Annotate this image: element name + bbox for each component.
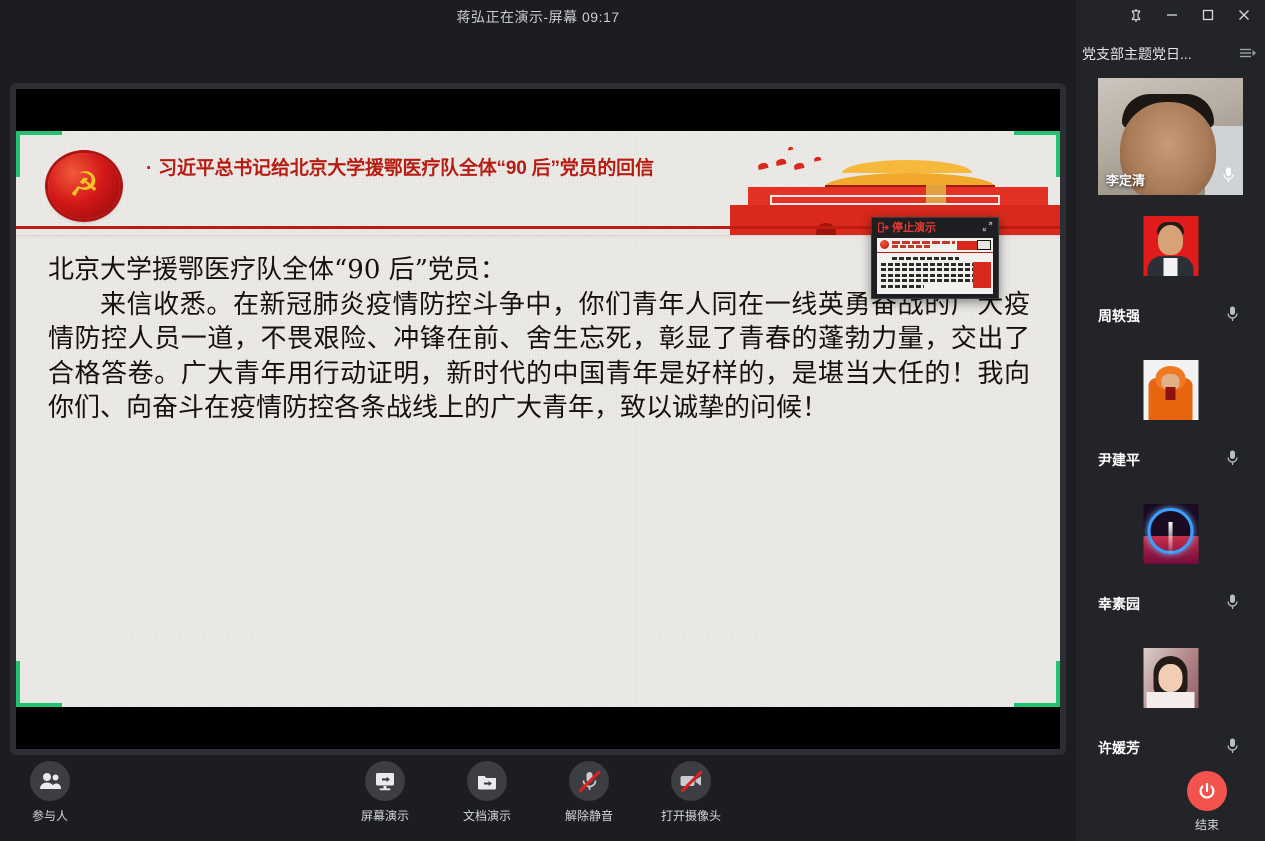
slide-title: ·习近平总书记给北京大学援鄂医疗队全体“90 后”党员的回信: [146, 157, 706, 181]
toolbar-actions: 屏幕演示 文档演示: [351, 761, 725, 824]
maximize-icon[interactable]: [1199, 6, 1217, 24]
mic-on-icon[interactable]: [1226, 593, 1239, 616]
window-controls: [1076, 0, 1265, 30]
letterbox-bottom: [16, 707, 1060, 749]
document-share-label: 文档演示: [463, 807, 511, 824]
screen-share-surface[interactable]: ☭ ·习近平总书记给北京大学援鄂医疗队全体“90 后”党员的回信: [16, 89, 1060, 749]
document-share-icon: [467, 761, 507, 801]
mic-on-icon[interactable]: [1222, 166, 1235, 189]
share-border-corner-top-right: [1014, 131, 1060, 177]
meeting-toolbar: 参与人 屏幕演示: [0, 755, 1076, 841]
participant-tile[interactable]: 周轶强: [1098, 208, 1243, 352]
people-icon: [30, 761, 70, 801]
meeting-topic: 党支部主题党日...: [1082, 44, 1233, 64]
participant-name: 周轶强: [1098, 306, 1140, 326]
window-titlebar: 蒋弘正在演示-屏幕 09:17: [0, 0, 1076, 34]
slide-title-text: 习近平总书记给北京大学援鄂医疗队全体“90 后”党员的回信: [158, 158, 654, 179]
mic-on-icon[interactable]: [1226, 305, 1239, 328]
mic-on-icon[interactable]: [1226, 449, 1239, 472]
stop-present-overlay[interactable]: 停止演示: [871, 217, 999, 299]
participant-tile[interactable]: 幸素园: [1098, 496, 1243, 640]
participants-label: 参与人: [32, 807, 68, 824]
pin-icon[interactable]: [1127, 6, 1145, 24]
meeting-window: 蒋弘正在演示-屏幕 09:17 ☭: [0, 0, 1265, 841]
screen-share-label: 屏幕演示: [361, 807, 409, 824]
participant-name: 许媛芳: [1098, 738, 1140, 758]
stop-present-bar[interactable]: 停止演示: [872, 218, 998, 236]
list-menu-icon[interactable]: [1239, 47, 1257, 62]
participant-tile[interactable]: 尹建平: [1098, 352, 1243, 496]
document-share-button[interactable]: 文档演示: [453, 761, 521, 824]
letterbox-top: [16, 89, 1060, 131]
end-meeting-button[interactable]: 结束: [1173, 771, 1241, 833]
mic-on-icon[interactable]: [1226, 737, 1239, 760]
mic-off-icon: [569, 761, 609, 801]
slide-paragraph: 来信收悉。在新冠肺炎疫情防控斗争中，你们青年人同在一线英勇奋战的广大疫情防控人员…: [48, 288, 1030, 426]
exit-arrow-icon: [878, 222, 889, 233]
participant-name: 幸素园: [1098, 594, 1140, 614]
presented-slide: ☭ ·习近平总书记给北京大学援鄂医疗队全体“90 后”党员的回信: [16, 131, 1060, 707]
window-title: 蒋弘正在演示-屏幕 09:17: [456, 7, 619, 27]
slide-title-bullet: ·: [146, 158, 152, 179]
participant-name: 李定清: [1106, 170, 1145, 189]
share-border-corner-bottom-right: [1014, 661, 1060, 707]
participant-tile[interactable]: 许媛芳: [1098, 640, 1243, 784]
screen-share-icon: [365, 761, 405, 801]
expand-diagonal-icon[interactable]: [982, 221, 993, 235]
camera-label: 打开摄像头: [661, 807, 721, 824]
camera-off-icon: [671, 761, 711, 801]
participant-rail: 党支部主题党日... 李定清 周轶强: [1076, 30, 1265, 841]
participant-tile-active[interactable]: 李定清: [1098, 78, 1243, 195]
close-icon[interactable]: [1235, 6, 1253, 24]
minimize-icon[interactable]: [1163, 6, 1181, 24]
end-meeting-label: 结束: [1195, 816, 1219, 833]
rail-header: 党支部主题党日...: [1076, 30, 1265, 78]
share-border-corner-bottom-left: [16, 661, 62, 707]
stop-present-label: 停止演示: [892, 219, 936, 235]
share-border-corner-top-left: [16, 131, 62, 177]
participant-name: 尹建平: [1098, 450, 1140, 470]
avatar: [1143, 648, 1198, 708]
shared-screen-stage[interactable]: ☭ ·习近平总书记给北京大学援鄂医疗队全体“90 后”党员的回信: [10, 83, 1066, 755]
slide-thumbnail-preview[interactable]: [877, 238, 993, 294]
participants-button[interactable]: 参与人: [16, 761, 84, 824]
camera-button[interactable]: 打开摄像头: [657, 761, 725, 824]
power-icon: [1187, 771, 1227, 811]
unmute-button[interactable]: 解除静音: [555, 761, 623, 824]
unmute-label: 解除静音: [565, 807, 613, 824]
screen-share-button[interactable]: 屏幕演示: [351, 761, 419, 824]
avatar: [1143, 360, 1198, 420]
avatar: [1143, 216, 1198, 276]
avatar: [1143, 504, 1198, 564]
